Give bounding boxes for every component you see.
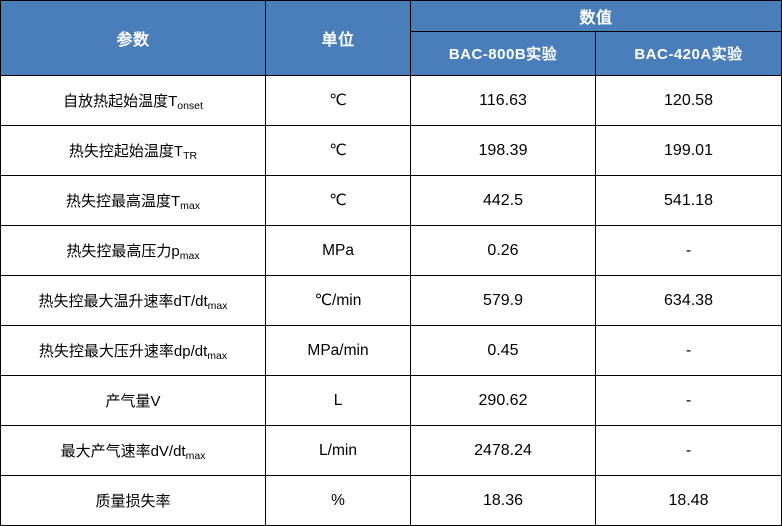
cell-value-bac420a: - (596, 326, 782, 376)
cell-value-bac800b: 198.39 (411, 126, 596, 176)
parameter-label: 热失控最大温升速率dT/dt (38, 293, 207, 310)
parameter-label: 产气量V (105, 393, 160, 410)
column-header-parameter: 参数 (1, 1, 266, 76)
table-row: 质量损失率%18.3618.48 (1, 476, 782, 526)
parameter-subscript: max (208, 300, 228, 312)
parameter-subscript: max (186, 450, 206, 462)
cell-value-bac800b: 0.26 (411, 226, 596, 276)
table-row: 最大产气速率dV/dtmaxL/min2478.24- (1, 426, 782, 476)
column-header-bac420a: BAC-420A实验 (596, 32, 782, 76)
parameter-subscript: max (180, 250, 200, 262)
cell-unit: ℃ (266, 76, 411, 126)
cell-value-bac800b: 290.62 (411, 376, 596, 426)
cell-unit: ℃ (266, 126, 411, 176)
cell-parameter: 最大产气速率dV/dtmax (1, 426, 266, 476)
header-row-top: 参数 单位 数值 (1, 1, 782, 32)
cell-parameter: 热失控最高压力pmax (1, 226, 266, 276)
table-row: 热失控最大压升速率dp/dtmaxMPa/min0.45- (1, 326, 782, 376)
cell-parameter: 热失控最大温升速率dT/dtmax (1, 276, 266, 326)
table-row: 自放热起始温度Tonset℃116.63120.58 (1, 76, 782, 126)
table-row: 产气量VL290.62- (1, 376, 782, 426)
parameter-label: 热失控最高温度T (66, 193, 180, 210)
table-row: 热失控最大温升速率dT/dtmax℃/min579.9634.38 (1, 276, 782, 326)
cell-value-bac420a: - (596, 426, 782, 476)
parameter-subscript: TR (183, 150, 197, 162)
parameter-subscript: max (207, 350, 227, 362)
column-header-unit: 单位 (266, 1, 411, 76)
table-row: 热失控最高温度Tmax℃442.5541.18 (1, 176, 782, 226)
cell-value-bac800b: 2478.24 (411, 426, 596, 476)
parameter-label: 热失控最大压升速率dp/dt (39, 343, 207, 360)
parameter-label: 最大产气速率dV/dt (61, 443, 186, 460)
cell-value-bac420a: 634.38 (596, 276, 782, 326)
cell-unit: ℃ (266, 176, 411, 226)
cell-unit: L/min (266, 426, 411, 476)
parameter-label: 质量损失率 (95, 493, 170, 510)
cell-parameter: 热失控最高温度Tmax (1, 176, 266, 226)
cell-parameter: 热失控起始温度TTR (1, 126, 266, 176)
table-body: 自放热起始温度Tonset℃116.63120.58热失控起始温度TTR℃198… (1, 76, 782, 526)
cell-unit: % (266, 476, 411, 526)
parameter-label: 热失控最高压力p (66, 243, 179, 260)
cell-value-bac800b: 442.5 (411, 176, 596, 226)
parameter-label: 热失控起始温度T (69, 143, 183, 160)
parameter-subscript: onset (177, 100, 203, 112)
cell-unit: ℃/min (266, 276, 411, 326)
column-header-bac800b: BAC-800B实验 (411, 32, 596, 76)
cell-value-bac420a: 541.18 (596, 176, 782, 226)
table-row: 热失控起始温度TTR℃198.39199.01 (1, 126, 782, 176)
parameter-comparison-table: 参数 单位 数值 BAC-800B实验 BAC-420A实验 自放热起始温度To… (0, 0, 782, 526)
cell-value-bac800b: 18.36 (411, 476, 596, 526)
cell-value-bac800b: 116.63 (411, 76, 596, 126)
column-header-value-group: 数值 (411, 1, 782, 32)
table-row: 热失控最高压力pmaxMPa0.26- (1, 226, 782, 276)
parameter-subscript: max (180, 200, 200, 212)
cell-value-bac800b: 0.45 (411, 326, 596, 376)
cell-parameter: 自放热起始温度Tonset (1, 76, 266, 126)
cell-value-bac420a: - (596, 226, 782, 276)
cell-value-bac420a: 18.48 (596, 476, 782, 526)
cell-value-bac420a: - (596, 376, 782, 426)
parameter-label: 自放热起始温度T (63, 93, 177, 110)
cell-value-bac800b: 579.9 (411, 276, 596, 326)
table-container: 参数 单位 数值 BAC-800B实验 BAC-420A实验 自放热起始温度To… (0, 0, 782, 526)
cell-value-bac420a: 120.58 (596, 76, 782, 126)
cell-parameter: 质量损失率 (1, 476, 266, 526)
cell-unit: MPa/min (266, 326, 411, 376)
cell-parameter: 热失控最大压升速率dp/dtmax (1, 326, 266, 376)
table-header: 参数 单位 数值 BAC-800B实验 BAC-420A实验 (1, 1, 782, 76)
cell-unit: L (266, 376, 411, 426)
cell-value-bac420a: 199.01 (596, 126, 782, 176)
cell-parameter: 产气量V (1, 376, 266, 426)
cell-unit: MPa (266, 226, 411, 276)
